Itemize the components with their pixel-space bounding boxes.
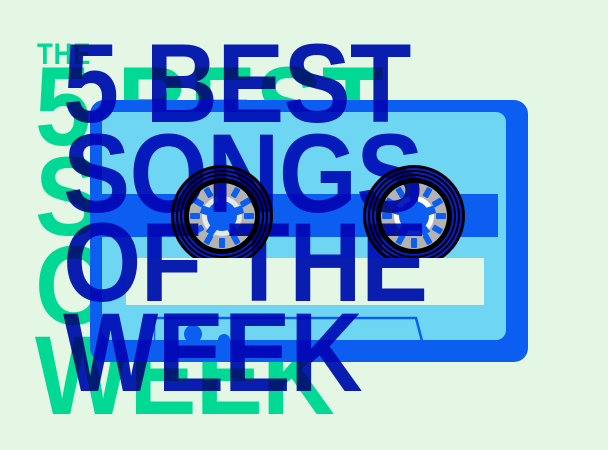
headline-line-4-blue: WEEK bbox=[63, 308, 427, 398]
poster-canvas: THE 5 BESTSONGSOF THEWEEK bbox=[0, 0, 608, 450]
headline-blue: 5 BESTSONGSOF THEWEEK bbox=[63, 39, 468, 397]
headline-blue-layer: 5 BESTSONGSOF THEWEEK bbox=[0, 0, 608, 450]
